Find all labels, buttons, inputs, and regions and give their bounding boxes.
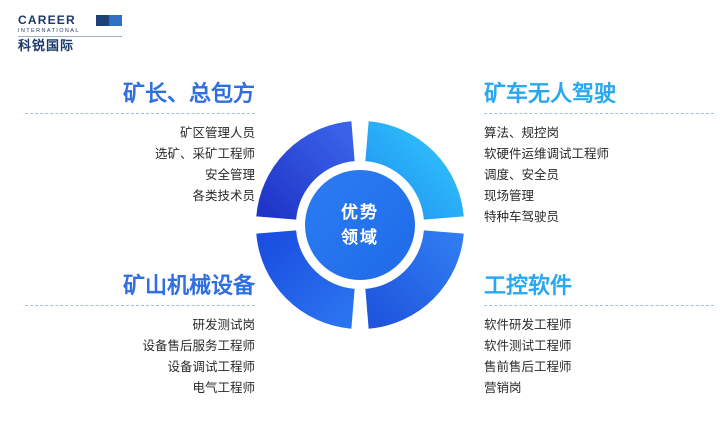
list-item: 售前售后工程师 [484, 357, 714, 378]
list-item: 软硬件运维调试工程师 [484, 144, 714, 165]
quadrant-bottom-right-items: 软件研发工程师 软件测试工程师 售前售后工程师 营销岗 [484, 315, 714, 399]
company-logo: CAREER INTERNATIONAL 科锐国际 [18, 14, 122, 50]
list-item: 设备售后服务工程师 [25, 336, 255, 357]
quadrant-bottom-right-title: 工控软件 [484, 272, 714, 300]
quadrant-top-left: 矿长、总包方 矿区管理人员 选矿、采矿工程师 安全管理 各类技术员 [25, 80, 255, 207]
list-item: 安全管理 [25, 165, 255, 186]
quadrant-bottom-right-underline [484, 305, 714, 306]
list-item: 特种车驾驶员 [484, 207, 714, 228]
list-item: 矿区管理人员 [25, 123, 255, 144]
inner-circle [305, 170, 415, 280]
quadrant-top-right-title: 矿车无人驾驶 [484, 80, 714, 108]
slide-canvas: CAREER INTERNATIONAL 科锐国际 [0, 0, 720, 446]
quadrant-top-right: 矿车无人驾驶 算法、规控岗 软硬件运维调试工程师 调度、安全员 现场管理 特种车… [484, 80, 714, 228]
list-item: 各类技术员 [25, 186, 255, 207]
list-item: 调度、安全员 [484, 165, 714, 186]
list-item: 软件测试工程师 [484, 336, 714, 357]
donut-svg [253, 118, 467, 332]
list-item: 现场管理 [484, 186, 714, 207]
quadrant-top-left-title: 矿长、总包方 [25, 80, 255, 108]
quadrant-bottom-left-title: 矿山机械设备 [25, 272, 255, 300]
logo-name-en-sub: INTERNATIONAL [18, 27, 122, 35]
logo-name-cn: 科锐国际 [18, 38, 74, 53]
logo-divider [18, 36, 122, 37]
list-item: 软件研发工程师 [484, 315, 714, 336]
quadrant-top-left-underline [25, 113, 255, 114]
list-item: 电气工程师 [25, 378, 255, 399]
list-item: 设备调试工程师 [25, 357, 255, 378]
list-item: 选矿、采矿工程师 [25, 144, 255, 165]
list-item: 研发测试岗 [25, 315, 255, 336]
quadrant-top-right-items: 算法、规控岗 软硬件运维调试工程师 调度、安全员 现场管理 特种车驾驶员 [484, 123, 714, 228]
advantage-donut-diagram: 优势 领域 [253, 118, 467, 332]
quadrant-bottom-left-underline [25, 305, 255, 306]
quadrant-top-left-items: 矿区管理人员 选矿、采矿工程师 安全管理 各类技术员 [25, 123, 255, 207]
quadrant-bottom-right: 工控软件 软件研发工程师 软件测试工程师 售前售后工程师 营销岗 [484, 272, 714, 399]
quadrant-top-right-underline [484, 113, 714, 114]
quadrant-bottom-left-items: 研发测试岗 设备售后服务工程师 设备调试工程师 电气工程师 [25, 315, 255, 399]
list-item: 营销岗 [484, 378, 714, 399]
list-item: 算法、规控岗 [484, 123, 714, 144]
logo-mark-icon [96, 15, 122, 26]
quadrant-bottom-left: 矿山机械设备 研发测试岗 设备售后服务工程师 设备调试工程师 电气工程师 [25, 272, 255, 399]
